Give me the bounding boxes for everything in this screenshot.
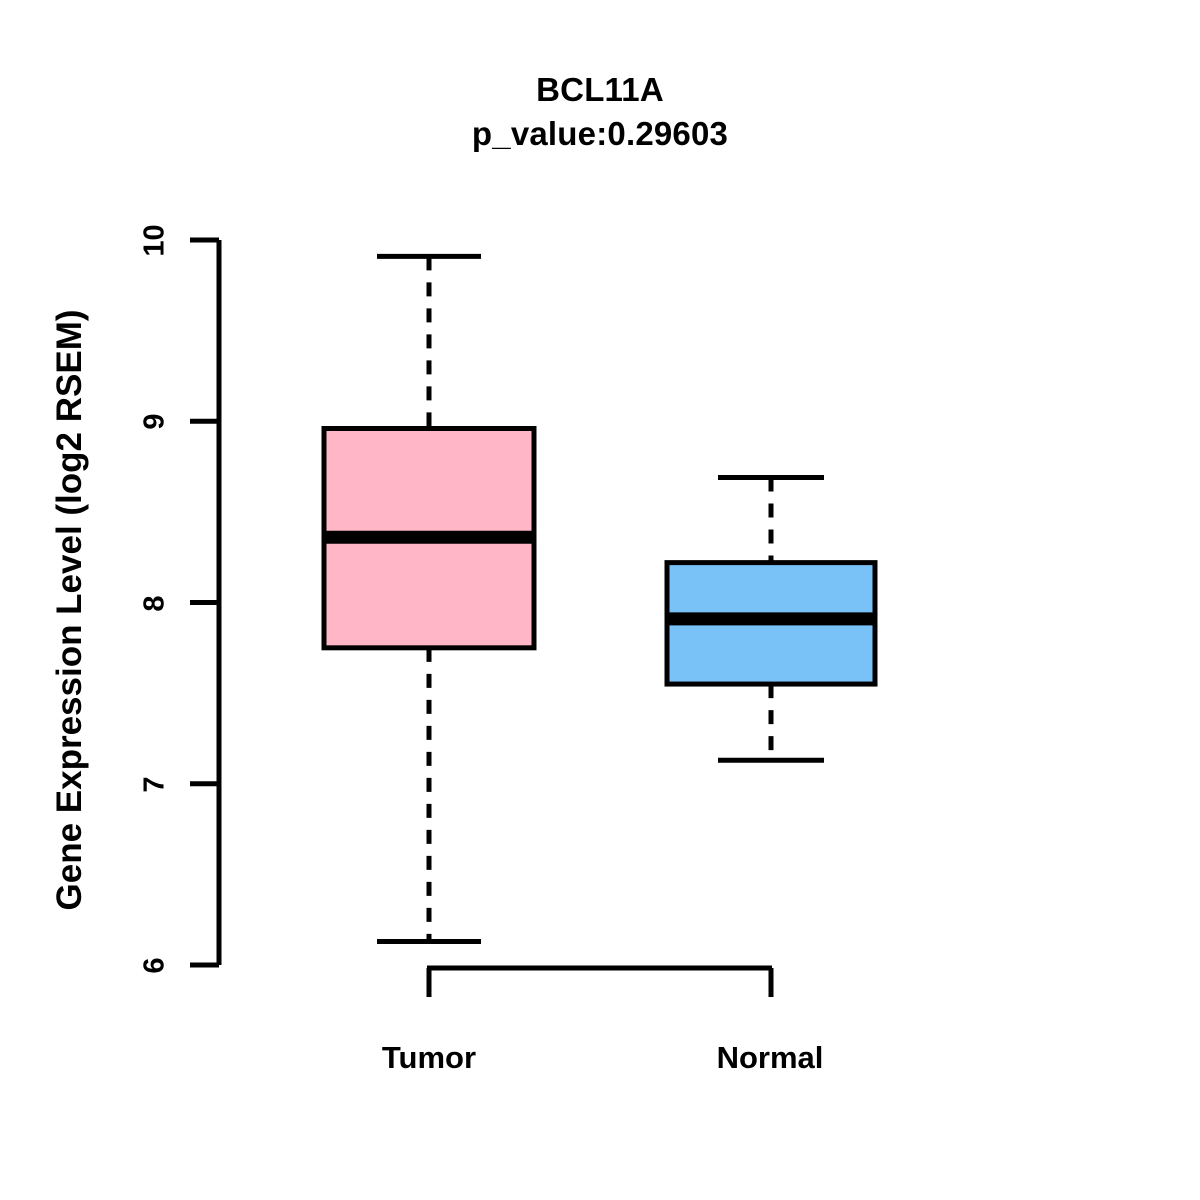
boxplot-figure: BCL11A p_value:0.29603 Gene Expression L… — [0, 0, 1200, 1200]
x-axis — [427, 968, 772, 997]
plot-canvas — [0, 0, 1200, 1200]
y-axis — [190, 240, 219, 965]
boxplot-box-normal[interactable] — [665, 477, 877, 760]
boxplot-box-tumor[interactable] — [322, 256, 536, 941]
